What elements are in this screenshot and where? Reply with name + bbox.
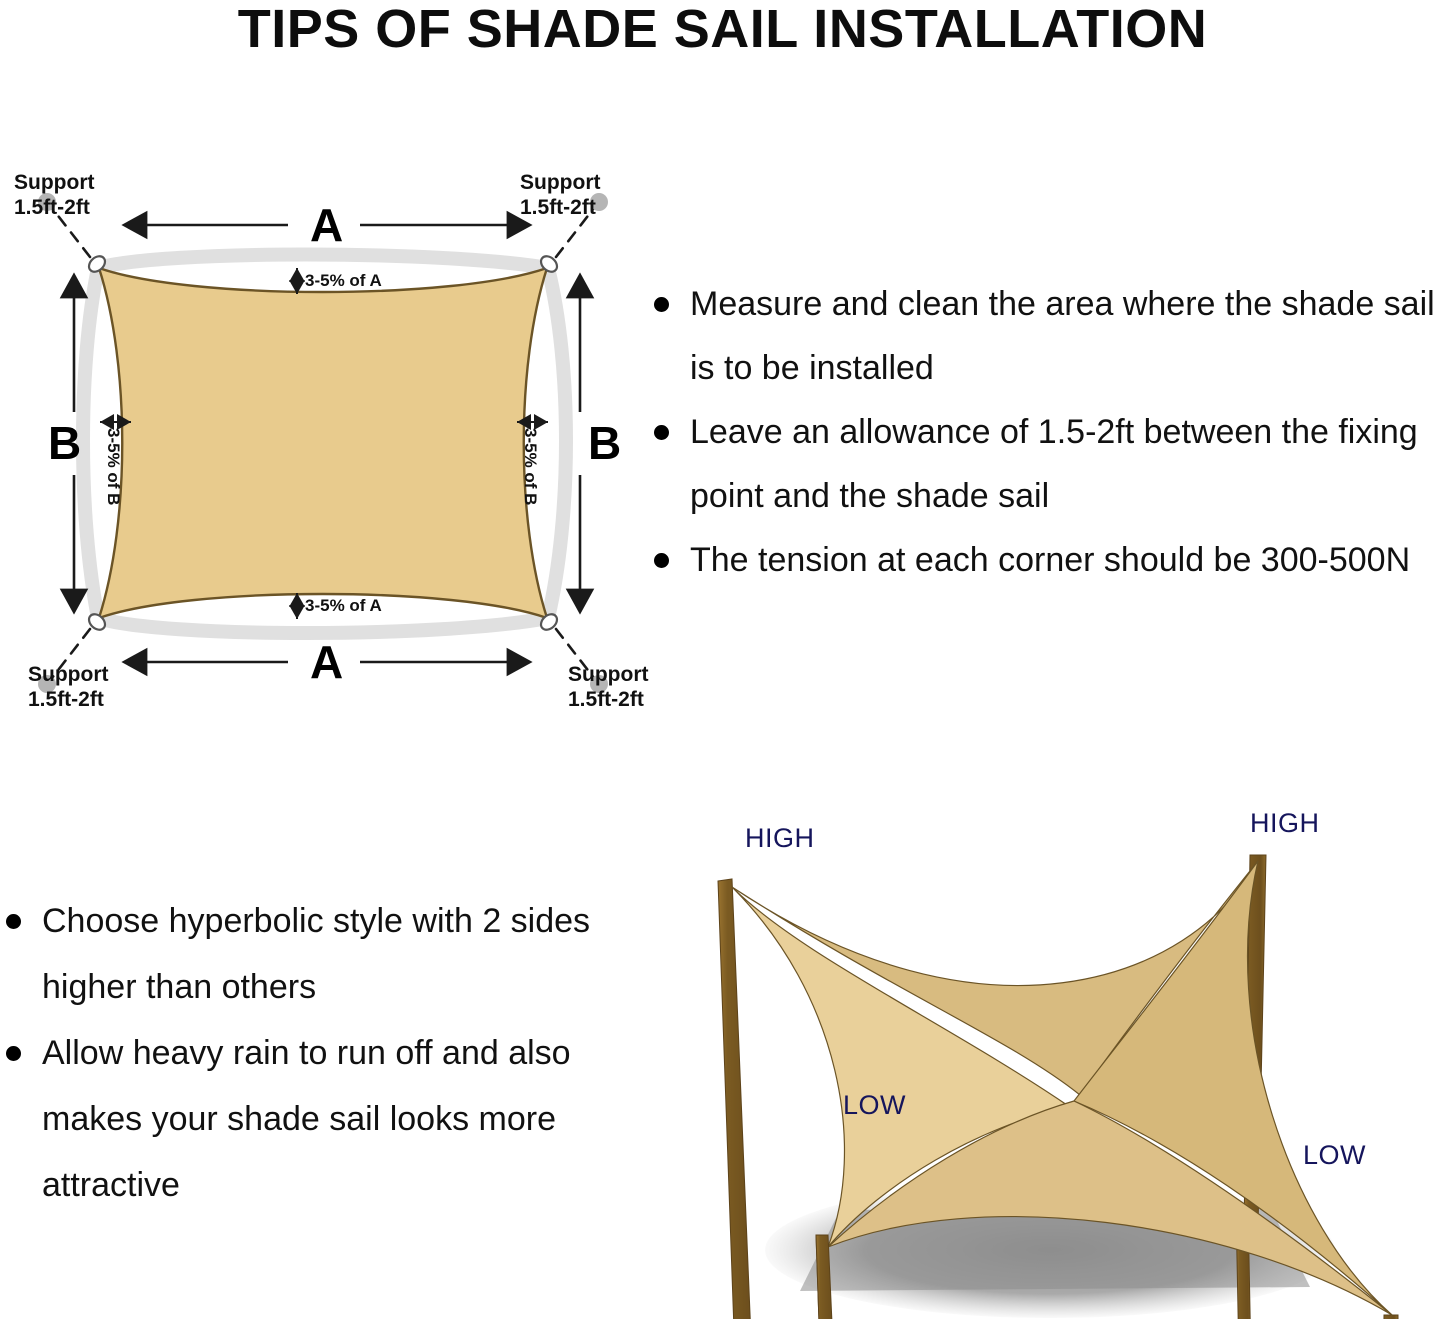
support-label-bottom-right: Support 1.5ft-2ft: [568, 662, 648, 712]
pole-low-right: [1382, 1315, 1398, 1319]
dimension-label-a-top: A: [310, 202, 343, 248]
dimension-label-b-right: B: [588, 420, 621, 466]
support-label-bottom-left: Support 1.5ft-2ft: [28, 662, 108, 712]
dimension-label-a-bottom: A: [310, 639, 343, 685]
hyperbolic-sail-diagram: HIGH HIGH LOW LOW: [650, 795, 1445, 1319]
page-title: TIPS OF SHADE SAIL INSTALLATION: [0, 0, 1445, 60]
sag-label-left: 3-5% of B: [104, 428, 122, 505]
list-item: Leave an allowance of 1.5-2ft between th…: [648, 400, 1445, 528]
label-high-left: HIGH: [745, 823, 815, 854]
sail-body: [99, 268, 547, 618]
support-label-top-left: Support 1.5ft-2ft: [14, 170, 94, 220]
rectangular-sail-diagram: Support 1.5ft-2ft Support 1.5ft-2ft Supp…: [0, 150, 660, 740]
installation-tips-list: Measure and clean the area where the sha…: [648, 272, 1445, 592]
sag-label-top: 3-5% of A: [305, 272, 382, 290]
hyperbolic-tips-list: Choose hyperbolic style with 2 sides hig…: [0, 888, 630, 1218]
label-low-right: LOW: [1303, 1140, 1366, 1171]
support-label-top-right: Support 1.5ft-2ft: [520, 170, 600, 220]
pole-high-left: [718, 879, 760, 1319]
label-high-right: HIGH: [1250, 808, 1320, 839]
sag-label-bottom: 3-5% of A: [305, 597, 382, 615]
hyperbolic-sail-svg: [650, 795, 1445, 1319]
list-item: Choose hyperbolic style with 2 sides hig…: [0, 888, 630, 1020]
sag-label-right: 3-5% of B: [521, 428, 539, 505]
list-item: Allow heavy rain to run off and also mak…: [0, 1020, 630, 1218]
list-item: The tension at each corner should be 300…: [648, 528, 1445, 592]
list-item: Measure and clean the area where the sha…: [648, 272, 1445, 400]
label-low-left: LOW: [843, 1090, 906, 1121]
dimension-label-b-left: B: [48, 420, 81, 466]
infographic-page: TIPS OF SHADE SAIL INSTALLATION: [0, 0, 1445, 1319]
